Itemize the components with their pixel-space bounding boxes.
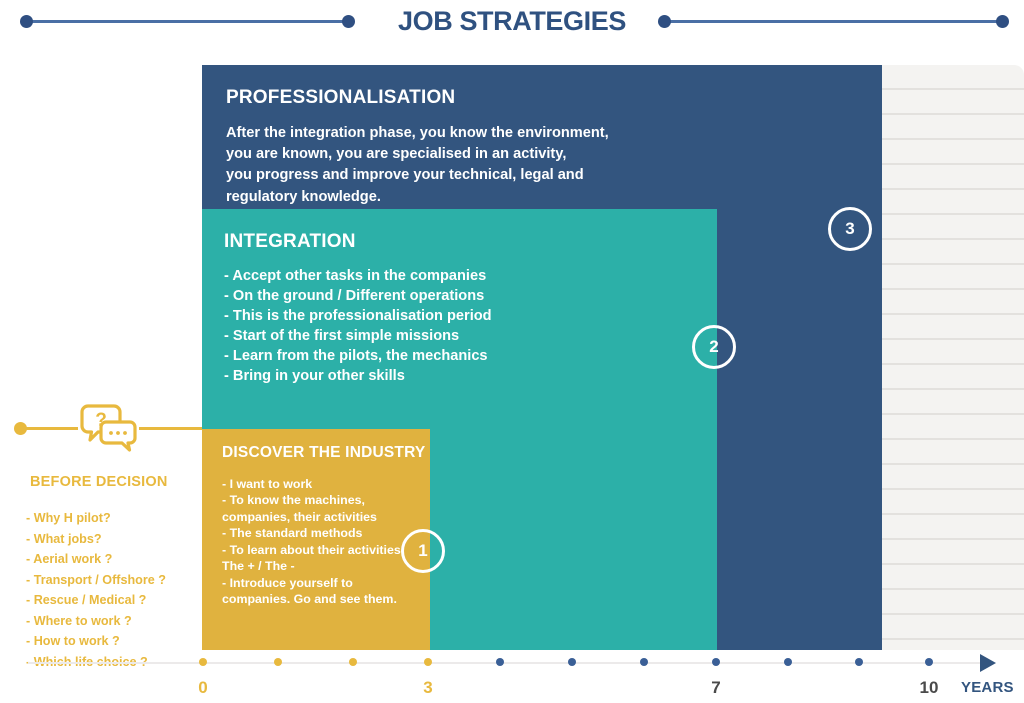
x-axis-tick: [199, 658, 207, 666]
phase-body-line: you progress and improve your technical,…: [226, 165, 882, 186]
phase-body-line: - Accept other tasks in the companies: [224, 267, 717, 287]
before-decision-list: - Why H pilot? - What jobs? - Aerial wor…: [26, 508, 166, 672]
x-axis-tick: [496, 658, 504, 666]
phase-title-discover: DISCOVER THE INDUSTRY: [222, 444, 430, 462]
phase-title-line: PROFESSIONALISATION: [226, 87, 455, 108]
before-decision-connector-line-right: [139, 427, 202, 430]
phase-title-line: THE INDUSTRY: [309, 444, 425, 461]
phase-body-line: After the integration phase, you know th…: [226, 123, 882, 144]
x-axis-unit-label: YEARS: [961, 679, 1014, 696]
phase-body-line: - Introduce yourself to companies. Go an…: [222, 575, 422, 608]
question-speech-bubbles-icon: ?: [78, 402, 138, 452]
header: JOB STRATEGIES: [0, 0, 1024, 55]
phase-body-line: - To learn about their activities. The +…: [222, 542, 422, 575]
phase-badge-2: 2: [692, 325, 736, 369]
list-item: - What jobs?: [26, 529, 166, 550]
phase-title-integration: INTEGRATION: [224, 231, 717, 253]
phase-body-line: - Start of the first simple missions: [224, 327, 717, 347]
phase-body-line: you are known, you are specialised in an…: [226, 144, 882, 165]
phase-body-discover: - I want to work - To know the machines,…: [222, 476, 422, 608]
x-axis-tick-label: 7: [696, 678, 736, 698]
x-axis-tick: [712, 658, 720, 666]
phase-body-line: - Bring in your other skills: [224, 367, 717, 387]
x-axis-tick: [925, 658, 933, 666]
x-axis-tick: [424, 658, 432, 666]
list-item: - Rescue / Medical ?: [26, 590, 166, 611]
x-axis-tick-label: 10: [909, 678, 949, 698]
phase-badge-3: 3: [828, 207, 872, 251]
x-axis-tick: [640, 658, 648, 666]
phase-body-line: regulatory knowledge.: [226, 187, 882, 208]
phase-body-line: - To know the machines, companies, their…: [222, 492, 422, 525]
phase-body-integration: - Accept other tasks in the companies - …: [224, 267, 717, 387]
page-title: JOB STRATEGIES: [0, 6, 1024, 37]
x-axis-tick: [784, 658, 792, 666]
phase-body-professionalisation: After the integration phase, you know th…: [226, 123, 882, 208]
job-strategies-infographic: JOB STRATEGIES PROFESSIONALISATION After…: [0, 0, 1024, 703]
phase-title-line: DISCOVER: [222, 444, 305, 461]
x-axis-tick: [568, 658, 576, 666]
x-axis-line: [28, 662, 982, 664]
list-item: - How to work ?: [26, 631, 166, 652]
phase-body-line: - On the ground / Different operations: [224, 287, 717, 307]
phase-body-line: - Learn from the pilots, the mechanics: [224, 347, 717, 367]
phase-body-line: - I want to work: [222, 476, 422, 493]
x-axis-tick: [855, 658, 863, 666]
phase-block-discover: DISCOVER THE INDUSTRY - I want to work -…: [202, 429, 430, 650]
x-axis-tick-label: 3: [408, 678, 448, 698]
x-axis-tick: [349, 658, 357, 666]
phase-body-line: - This is the professionalisation period: [224, 307, 717, 327]
arrow-right-icon: [980, 654, 996, 672]
list-item: - Transport / Offshore ?: [26, 570, 166, 591]
list-item: - Where to work ?: [26, 611, 166, 632]
phase-body-line: - The standard methods: [222, 525, 422, 542]
phase-badge-1: 1: [401, 529, 445, 573]
list-item: - Why H pilot?: [26, 508, 166, 529]
phase-title-professionalisation: PROFESSIONALISATION: [226, 87, 882, 109]
x-axis-tick: [274, 658, 282, 666]
before-decision-connector-line-left: [26, 427, 78, 430]
x-axis-tick-label: 0: [183, 678, 223, 698]
list-item: - Aerial work ?: [26, 549, 166, 570]
before-decision-title: BEFORE DECISION: [30, 474, 168, 490]
phase-title-line: INTEGRATION: [224, 231, 356, 252]
